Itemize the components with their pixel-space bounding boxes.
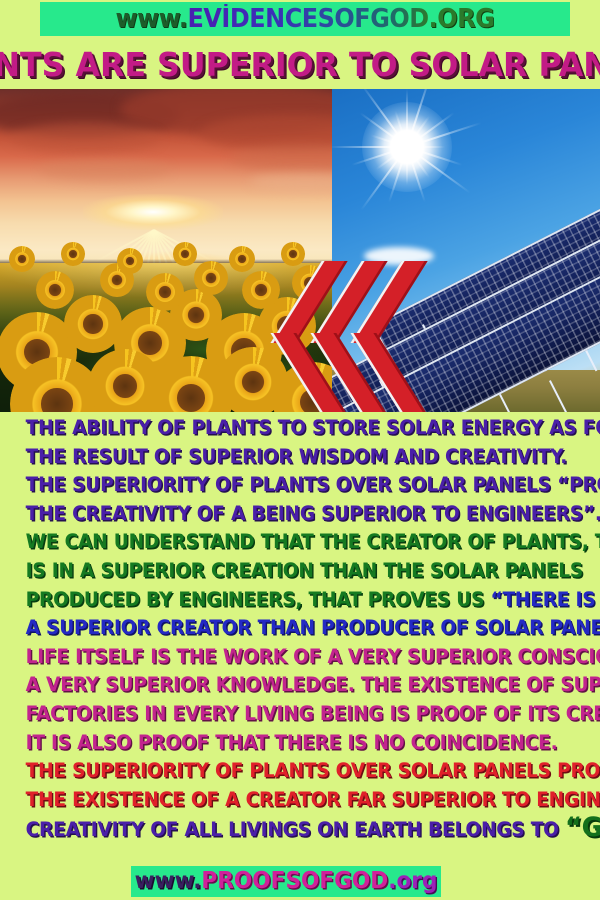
footer-url-banner: www.PROOFSOFGOD.org [131,866,441,897]
header-url-banner: www.EVİDENCESOFGOD.ORG [40,2,570,36]
body-line: THE ABILITY OF PLANTS TO STORE SOLAR ENE… [0,414,570,443]
body-line: THE RESULT OF SUPERIOR WISDOM AND CREATI… [0,443,570,472]
header-url: www.EVİDENCESOFGOD.ORG [116,6,495,32]
body-text-segment: THE ABILITY OF PLANTS TO STORE SOLAR ENE… [26,416,600,439]
body-line: CREATIVITY OF ALL LIVINGS ON EARTH BELON… [0,814,570,845]
body-text-segment: THE SUPERIORITY OF PLANTS OVER SOLAR PAN… [26,473,600,496]
body-text-segment: FACTORIES IN EVERY LIVING BEING IS PROOF… [26,702,600,725]
body-line: IT IS ALSO PROOF THAT THERE IS NO COINCI… [0,729,570,758]
poster-root: www.EVİDENCESOFGOD.ORG PLANTS ARE SUPERI… [0,0,600,900]
body-text-segment: THE CREATIVITY OF A BEING SUPERIOR TO EN… [26,502,600,525]
body-text-segment: THE RESULT OF SUPERIOR WISDOM AND CREATI… [26,445,567,468]
sun-icon [362,102,452,192]
red-chevron-arrows [296,267,436,412]
body-line: PRODUCED BY ENGINEERS, THAT PROVES US “T… [0,586,570,615]
sunflower-field-sunset-photo [0,89,332,412]
footer-url-prefix: www. [135,868,202,894]
body-line: LIFE ITSELF IS THE WORK OF A VERY SUPERI… [0,643,570,672]
body-text-segment: WE CAN UNDERSTAND THAT THE CREATOR OF PL… [26,530,600,553]
body-line: THE SUPERIORITY OF PLANTS OVER SOLAR PAN… [0,471,570,500]
body-line: THE CREATIVITY OF A BEING SUPERIOR TO EN… [0,500,570,529]
body-text-segment: THE SUPERIORITY OF PLANTS OVER SOLAR PAN… [26,759,600,782]
body-text-segment: “GOD” [565,812,600,843]
body-line: THE EXISTENCE OF A CREATOR FAR SUPERIOR … [0,786,570,815]
body-line: IS IN A SUPERIOR CREATION THAN THE SOLAR… [0,557,570,586]
body-text-segment: CREATIVITY OF ALL LIVINGS ON EARTH BELON… [26,818,565,841]
image-strip [0,89,600,412]
body-text-segment: IS IN A SUPERIOR CREATION THAN THE SOLAR… [26,559,583,582]
body-text-block: THE ABILITY OF PLANTS TO STORE SOLAR ENE… [0,414,600,860]
footer-url: www.PROOFSOFGOD.org [135,870,438,893]
header-url-tld: .ORG [429,4,495,34]
body-text-segment: “THERE IS [490,588,595,611]
poster-title: PLANTS ARE SUPERIOR TO SOLAR PANELS [12,42,588,86]
header-url-prefix: www. [116,4,188,34]
body-line: A VERY SUPERIOR KNOWLEDGE. THE EXISTENCE… [0,671,570,700]
body-text-segment: A SUPERIOR CREATOR THAN PRODUCER OF SOLA… [26,616,600,639]
body-text-segment: IT IS ALSO PROOF THAT THERE IS NO COINCI… [26,731,558,754]
footer-url-tld: .org [388,868,437,894]
body-text-segment: A VERY SUPERIOR KNOWLEDGE. THE EXISTENCE… [26,673,600,696]
body-line: WE CAN UNDERSTAND THAT THE CREATOR OF PL… [0,528,570,557]
footer-url-main: PROOFSOFGOD [201,868,388,894]
header-url-main: EVİDENCESOFGOD [188,4,429,34]
body-line: A SUPERIOR CREATOR THAN PRODUCER OF SOLA… [0,614,570,643]
body-text-segment: THE EXISTENCE OF A CREATOR FAR SUPERIOR … [26,788,600,811]
body-line: FACTORIES IN EVERY LIVING BEING IS PROOF… [0,700,570,729]
body-text-segment: PRODUCED BY ENGINEERS, THAT PROVES US [26,588,491,611]
body-line: THE SUPERIORITY OF PLANTS OVER SOLAR PAN… [0,757,570,786]
body-text-segment: LIFE ITSELF IS THE WORK OF A VERY SUPERI… [26,645,600,668]
sun-glow [83,194,223,230]
